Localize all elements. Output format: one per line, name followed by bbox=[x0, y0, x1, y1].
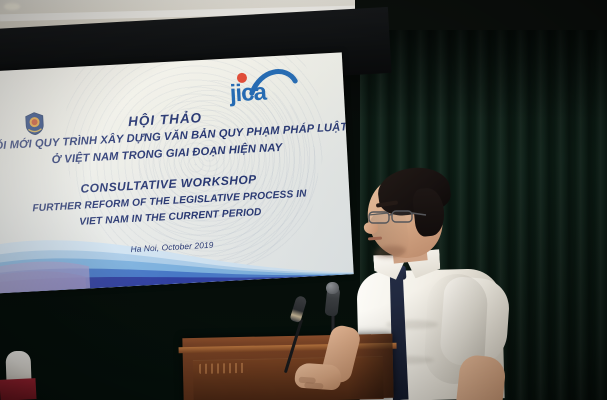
banner-place-date: Ha Noi, October 2019 bbox=[0, 232, 352, 261]
photo-scene: jica HỘI THẢO ĐỔI MỚI QUY TRÌNH XÂY DỰNG… bbox=[0, 0, 607, 400]
microphone-capsule bbox=[326, 282, 339, 294]
speaker-hand bbox=[294, 362, 342, 390]
eyeglasses-icon bbox=[366, 206, 436, 230]
finger bbox=[304, 382, 323, 389]
banner-text-block: HỘI THẢO ĐỔI MỚI QUY TRÌNH XÂY DỰNG VĂN … bbox=[0, 52, 354, 293]
workshop-banner: jica HỘI THẢO ĐỔI MỚI QUY TRÌNH XÂY DỰNG… bbox=[0, 52, 354, 293]
chair-seat bbox=[0, 378, 37, 400]
ceiling-light bbox=[4, 3, 20, 10]
podium-carving bbox=[199, 363, 247, 374]
